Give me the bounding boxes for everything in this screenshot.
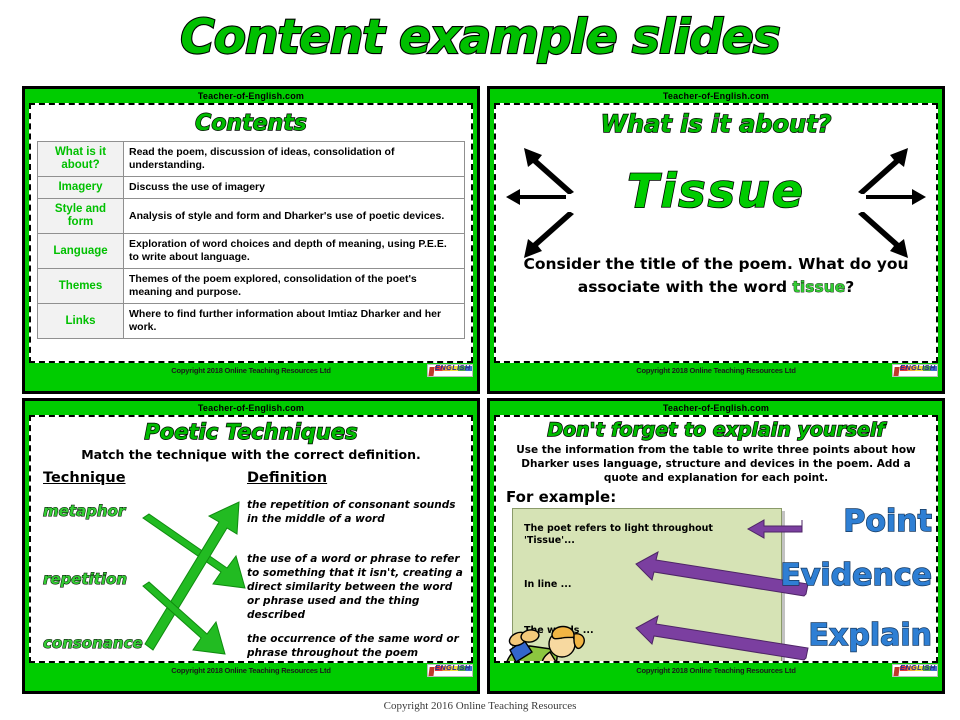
- slide-contents[interactable]: Teacher-of-English.com Contents What is …: [22, 86, 480, 394]
- table-row: ThemesThemes of the poem explored, conso…: [38, 269, 465, 304]
- table-row: ImageryDiscuss the use of imagery: [38, 177, 465, 199]
- footer-copyright: Copyright 2018 Online Teaching Resources…: [636, 366, 795, 375]
- slide1-title: Contents: [37, 111, 465, 136]
- slide-header-techniques: Teacher-of-English.com: [25, 401, 477, 415]
- definition-consonance[interactable]: the repetition of consonant sounds in th…: [247, 498, 465, 526]
- table-row: LinksWhere to find further information a…: [38, 304, 465, 339]
- slide-overview-page: Content example slides Teacher-of-Englis…: [0, 0, 960, 720]
- contents-row-value: Where to find further information about …: [124, 304, 465, 339]
- contents-row-key: Language: [38, 234, 124, 269]
- english-logo-icon: ENGLISH: [892, 664, 938, 677]
- slide2-title: What is it about?: [496, 110, 936, 138]
- technique-repetition[interactable]: repetition: [43, 570, 127, 588]
- slide-footer-explain: Copyright 2018 Online Teaching Resources…: [490, 663, 942, 679]
- student-reading-icon: [500, 622, 592, 663]
- footer-copyright: Copyright 2018 Online Teaching Resources…: [171, 366, 330, 375]
- prompt-text-after: ?: [845, 278, 854, 296]
- technique-definition-headers: Technique Definition: [31, 470, 471, 492]
- matching-exercise: metaphor repetition consonance the repet…: [31, 492, 471, 663]
- slide-explain-yourself[interactable]: Teacher-of-English.com Don't forget to e…: [487, 398, 945, 694]
- slide3-instruction: Match the technique with the correct def…: [31, 447, 471, 462]
- footer-copyright: Copyright 2018 Online Teaching Resources…: [171, 666, 330, 675]
- table-row: LanguageExploration of word choices and …: [38, 234, 465, 269]
- arrow-up-right-icon: [856, 146, 912, 194]
- contents-row-value: Exploration of word choices and depth of…: [124, 234, 465, 269]
- slide-footer-techniques: Copyright 2018 Online Teaching Resources…: [25, 663, 477, 679]
- slide-body-techniques: Poetic Techniques Match the technique wi…: [29, 415, 473, 663]
- logo-book-icon: [893, 367, 899, 377]
- logo-word: ENGLISH: [900, 364, 935, 376]
- column-header-definition: Definition: [247, 470, 327, 486]
- english-logo-icon: ENGLISH: [427, 364, 473, 377]
- logo-word: ENGLISH: [435, 664, 470, 676]
- definition-metaphor[interactable]: the use of a word or phrase to refer to …: [247, 552, 465, 622]
- pee-word-explain: Explain: [809, 618, 933, 653]
- slide-poetic-techniques[interactable]: Teacher-of-English.com Poetic Techniques…: [22, 398, 480, 694]
- contents-row-key: Imagery: [38, 177, 124, 199]
- page-title: Content example slides: [0, 10, 960, 65]
- table-row: Style and formAnalysis of style and form…: [38, 199, 465, 234]
- slide-body-contents: Contents What is it about?Read the poem,…: [29, 103, 473, 363]
- slide-body-about: What is it about? Tissue: [494, 103, 938, 363]
- pee-word-evidence: Evidence: [780, 558, 932, 593]
- technique-consonance[interactable]: consonance: [43, 634, 143, 652]
- tissue-mindmap: Tissue: [496, 138, 936, 256]
- table-row: What is it about?Read the poem, discussi…: [38, 142, 465, 177]
- logo-word: ENGLISH: [435, 364, 470, 376]
- contents-row-key: Themes: [38, 269, 124, 304]
- logo-book-icon: [893, 667, 899, 677]
- logo-word: ENGLISH: [900, 664, 935, 676]
- slide-header-about: Teacher-of-English.com: [490, 89, 942, 103]
- slide-footer-about: Copyright 2018 Online Teaching Resources…: [490, 363, 942, 379]
- english-logo-icon: ENGLISH: [427, 664, 473, 677]
- arrow-up-left-icon: [520, 146, 576, 194]
- slide2-prompt: Consider the title of the poem. What do …: [510, 253, 922, 299]
- contents-table: What is it about?Read the poem, discussi…: [37, 141, 465, 339]
- contents-row-value: Analysis of style and form and Dharker's…: [124, 199, 465, 234]
- contents-row-key: What is it about?: [38, 142, 124, 177]
- slide4-title: Don't forget to explain yourself: [496, 419, 936, 441]
- page-copyright: Copyright 2016 Online Teaching Resources: [0, 700, 960, 712]
- slide-what-is-it-about[interactable]: Teacher-of-English.com What is it about?…: [487, 86, 945, 394]
- slide4-instruction: Use the information from the table to wr…: [510, 443, 922, 485]
- contents-row-key: Style and form: [38, 199, 124, 234]
- contents-row-value: Discuss the use of imagery: [124, 177, 465, 199]
- pee-word-point: Point: [843, 504, 932, 539]
- contents-row-key: Links: [38, 304, 124, 339]
- contents-row-value: Themes of the poem explored, consolidati…: [124, 269, 465, 304]
- pee-example-area: The poet refers to light throughout 'Tis…: [496, 506, 936, 663]
- column-header-technique: Technique: [43, 470, 126, 486]
- definition-repetition[interactable]: the occurrence of the same word or phras…: [247, 632, 465, 660]
- logo-book-icon: [428, 367, 434, 377]
- prompt-highlight-word: tissue: [793, 278, 846, 296]
- slide-header-explain: Teacher-of-English.com: [490, 401, 942, 415]
- technique-metaphor[interactable]: metaphor: [43, 502, 125, 520]
- logo-book-icon: [428, 667, 434, 677]
- english-logo-icon: ENGLISH: [892, 364, 938, 377]
- footer-copyright: Copyright 2018 Online Teaching Resources…: [636, 666, 795, 675]
- slide-header-contents: Teacher-of-English.com: [25, 89, 477, 103]
- contents-row-value: Read the poem, discussion of ideas, cons…: [124, 142, 465, 177]
- slide-body-explain: Don't forget to explain yourself Use the…: [494, 415, 938, 663]
- slide3-title: Poetic Techniques: [31, 420, 471, 444]
- slide-footer-contents: Copyright 2018 Online Teaching Resources…: [25, 363, 477, 379]
